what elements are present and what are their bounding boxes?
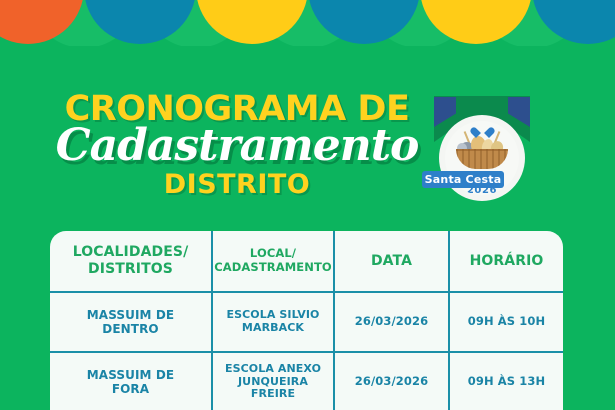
- schedule-table: LOCALIDADES/ DISTRITOS LOCAL/ CADASTRAME…: [50, 231, 563, 410]
- local-line-2: JUNQUEIRA FREIRE: [218, 376, 328, 402]
- logo-name-ribbon: Santa Cesta: [422, 171, 504, 188]
- localidade-line-2: DENTRO: [87, 322, 174, 336]
- header-line-2: DISTRITOS: [73, 261, 189, 278]
- header-line-1: LOCAL/: [214, 247, 332, 261]
- table-row: MASSUIM DE DENTRO ESCOLA SILVIO MARBACK …: [50, 293, 563, 353]
- cell-horario: 09H ÀS 13H: [450, 353, 563, 410]
- localidade-line-1: MASSUIM DE: [87, 368, 174, 382]
- local-line-2: MARBACK: [227, 322, 320, 335]
- local-line-1: ESCOLA ANEXO: [218, 363, 328, 376]
- table-row: MASSUIM DE FORA ESCOLA ANEXO JUNQUEIRA F…: [50, 353, 563, 410]
- header-line-1: LOCALIDADES/: [73, 244, 189, 261]
- column-header-local-cadastramento: LOCAL/ CADASTRAMENTO: [213, 231, 335, 291]
- pennant-banner: [0, 0, 615, 46]
- column-header-horario: HORÁRIO: [450, 231, 563, 291]
- page-title: CRONOGRAMA DE Cadastramento DISTRITO: [52, 92, 422, 198]
- heart-icon: [476, 128, 489, 140]
- localidade-line-2: FORA: [87, 382, 174, 396]
- cell-data: 26/03/2026: [335, 293, 450, 351]
- cell-horario: 09H ÀS 10H: [450, 293, 563, 351]
- localidade-line-1: MASSUIM DE: [87, 308, 174, 322]
- title-line-distrito: DISTRITO: [52, 171, 422, 198]
- cell-local-cadastramento: ESCOLA SILVIO MARBACK: [213, 293, 335, 351]
- header-line-2: CADASTRAMENTO: [214, 261, 332, 275]
- title-script-cadastramento: Cadastramento: [52, 124, 422, 169]
- santa-cesta-logo: 2026 Santa Cesta: [426, 96, 538, 200]
- column-header-data: DATA: [335, 231, 450, 291]
- cell-localidade: MASSUIM DE FORA: [50, 353, 213, 410]
- column-header-localidades: LOCALIDADES/ DISTRITOS: [50, 231, 213, 291]
- basket-weave: [456, 149, 508, 169]
- cell-local-cadastramento: ESCOLA ANEXO JUNQUEIRA FREIRE: [213, 353, 335, 410]
- cell-data: 26/03/2026: [335, 353, 450, 410]
- table-header-row: LOCALIDADES/ DISTRITOS LOCAL/ CADASTRAME…: [50, 231, 563, 293]
- logo-brand-name: Santa Cesta: [425, 173, 502, 186]
- cell-localidade: MASSUIM DE DENTRO: [50, 293, 213, 351]
